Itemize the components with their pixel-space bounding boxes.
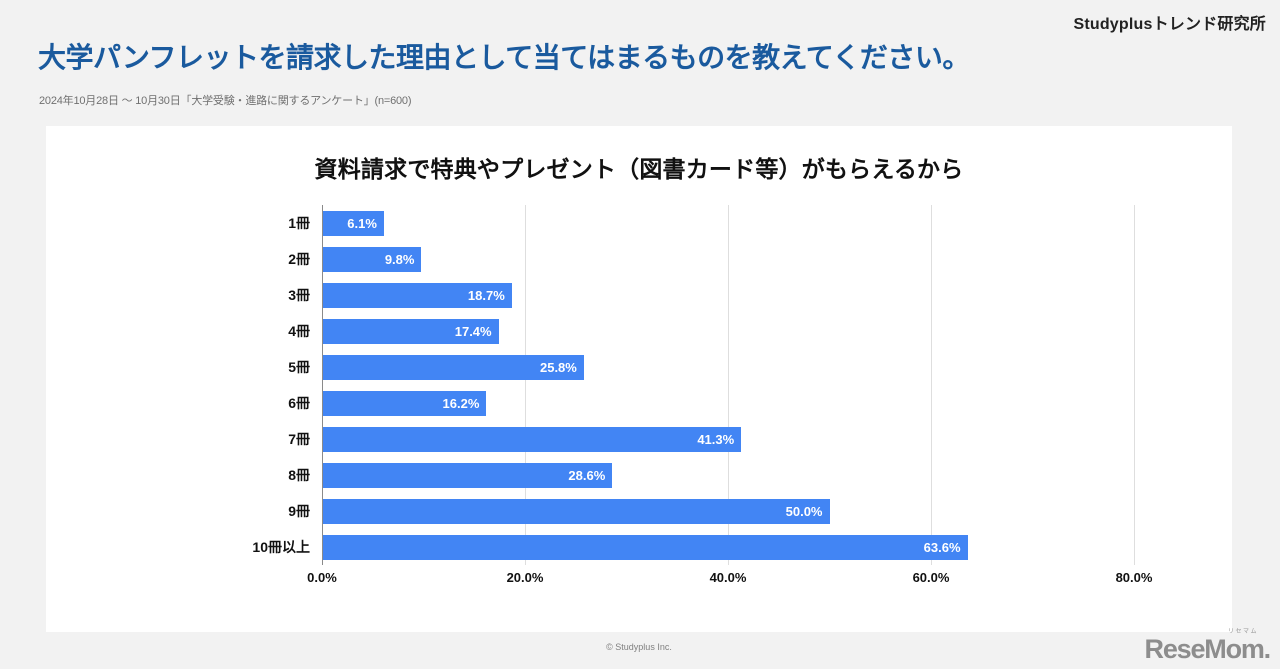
bar-value-label: 16.2% bbox=[443, 396, 487, 411]
chart-title: 資料請求で特典やプレゼント（図書カード等）がもらえるから bbox=[46, 150, 1232, 184]
bar: 50.0% bbox=[322, 499, 830, 524]
category-label: 10冊以上 bbox=[252, 537, 310, 557]
bar: 18.7% bbox=[322, 283, 512, 308]
chart-plot-area: 1冊6.1%2冊9.8%3冊18.7%4冊17.4%5冊25.8%6冊16.2%… bbox=[322, 205, 1134, 565]
x-tick-label: 20.0% bbox=[507, 570, 544, 585]
bar-rows: 1冊6.1%2冊9.8%3冊18.7%4冊17.4%5冊25.8%6冊16.2%… bbox=[322, 205, 1134, 565]
bar-row: 9冊50.0% bbox=[322, 493, 1134, 529]
copyright: © Studyplus Inc. bbox=[46, 642, 1232, 652]
bar-row: 5冊25.8% bbox=[322, 349, 1134, 385]
category-label: 5冊 bbox=[288, 357, 310, 377]
category-label: 1冊 bbox=[288, 213, 310, 233]
bar: 41.3% bbox=[322, 427, 741, 452]
bar-row: 7冊41.3% bbox=[322, 421, 1134, 457]
bar-row: 6冊16.2% bbox=[322, 385, 1134, 421]
page-title: 大学パンフレットを請求した理由として当てはまるものを教えてください。 bbox=[38, 36, 970, 76]
bar-value-label: 28.6% bbox=[568, 468, 612, 483]
resemom-logo-wordmark: ReseMom. bbox=[1145, 636, 1270, 663]
bar: 25.8% bbox=[322, 355, 584, 380]
bar-row: 2冊9.8% bbox=[322, 241, 1134, 277]
bar-value-label: 63.6% bbox=[924, 540, 968, 555]
bar-value-label: 41.3% bbox=[697, 432, 741, 447]
bar: 28.6% bbox=[322, 463, 612, 488]
bar-row: 10冊以上63.6% bbox=[322, 529, 1134, 565]
bar-value-label: 6.1% bbox=[347, 216, 384, 231]
bar-row: 8冊28.6% bbox=[322, 457, 1134, 493]
studyplus-trend-lab-brand: Studyplusトレンド研究所 bbox=[1073, 10, 1266, 34]
bar-row: 1冊6.1% bbox=[322, 205, 1134, 241]
category-label: 3冊 bbox=[288, 285, 310, 305]
category-label: 6冊 bbox=[288, 393, 310, 413]
bar-value-label: 50.0% bbox=[786, 504, 830, 519]
x-tick-label: 80.0% bbox=[1116, 570, 1153, 585]
bar-value-label: 18.7% bbox=[468, 288, 512, 303]
bar-value-label: 17.4% bbox=[455, 324, 499, 339]
chart-card: 資料請求で特典やプレゼント（図書カード等）がもらえるから 1冊6.1%2冊9.8… bbox=[46, 126, 1232, 632]
category-label: 2冊 bbox=[288, 249, 310, 269]
x-tick-label: 40.0% bbox=[710, 570, 747, 585]
category-label: 9冊 bbox=[288, 501, 310, 521]
x-axis: 0.0%20.0%40.0%60.0%80.0% bbox=[322, 570, 1134, 590]
category-label: 7冊 bbox=[288, 429, 310, 449]
y-axis-line bbox=[322, 205, 323, 565]
bar: 6.1% bbox=[322, 211, 384, 236]
bar-value-label: 25.8% bbox=[540, 360, 584, 375]
bar: 17.4% bbox=[322, 319, 499, 344]
bar-row: 4冊17.4% bbox=[322, 313, 1134, 349]
bar: 9.8% bbox=[322, 247, 421, 272]
bar: 16.2% bbox=[322, 391, 486, 416]
bar-value-label: 9.8% bbox=[385, 252, 422, 267]
survey-note: 2024年10月28日 ～ 10月30日「大学受験・進路に関するアンケート」(n… bbox=[39, 92, 411, 108]
category-label: 8冊 bbox=[288, 465, 310, 485]
bar: 63.6% bbox=[322, 535, 968, 560]
x-tick-label: 0.0% bbox=[307, 570, 337, 585]
category-label: 4冊 bbox=[288, 321, 310, 341]
resemom-logo: リセマム ReseMom. bbox=[1145, 629, 1270, 663]
gridline bbox=[1134, 205, 1135, 565]
bar-row: 3冊18.7% bbox=[322, 277, 1134, 313]
x-tick-label: 60.0% bbox=[913, 570, 950, 585]
